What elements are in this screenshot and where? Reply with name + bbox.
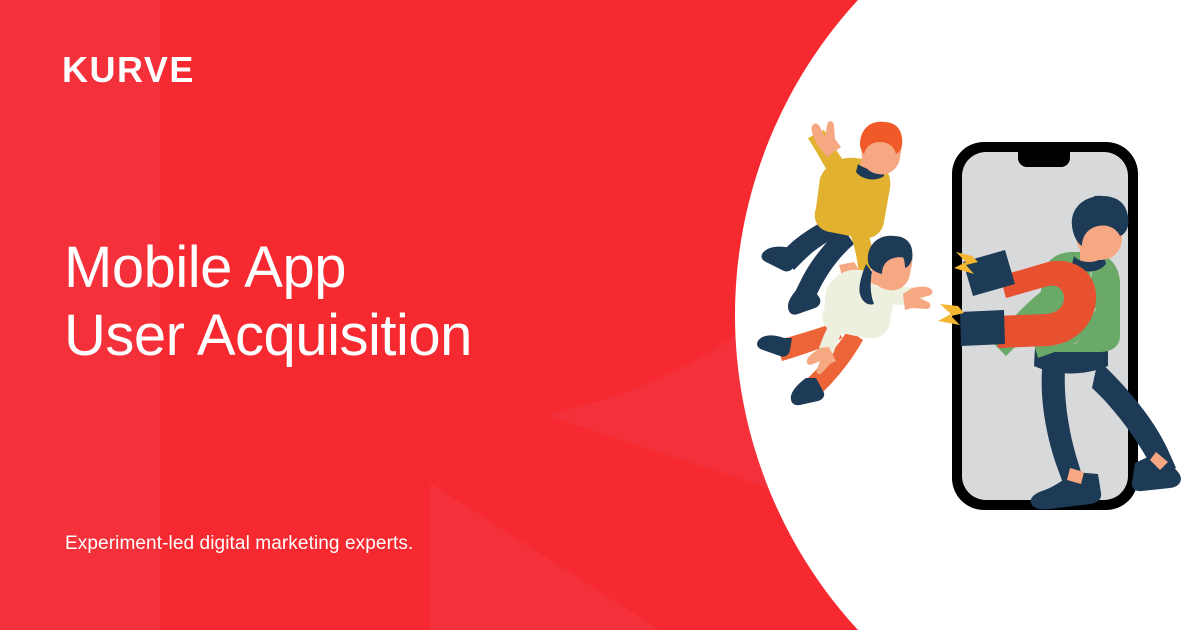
headline-line-1: Mobile App — [64, 234, 472, 302]
headline-line-2: User Acquisition — [64, 302, 472, 370]
marketing-banner: KURVE Mobile App User Acquisition Experi… — [0, 0, 1200, 630]
kurve-logo[interactable]: KURVE — [62, 52, 195, 88]
tagline: Experiment-led digital marketing experts… — [65, 533, 413, 555]
page-title: Mobile App User Acquisition — [64, 234, 472, 370]
